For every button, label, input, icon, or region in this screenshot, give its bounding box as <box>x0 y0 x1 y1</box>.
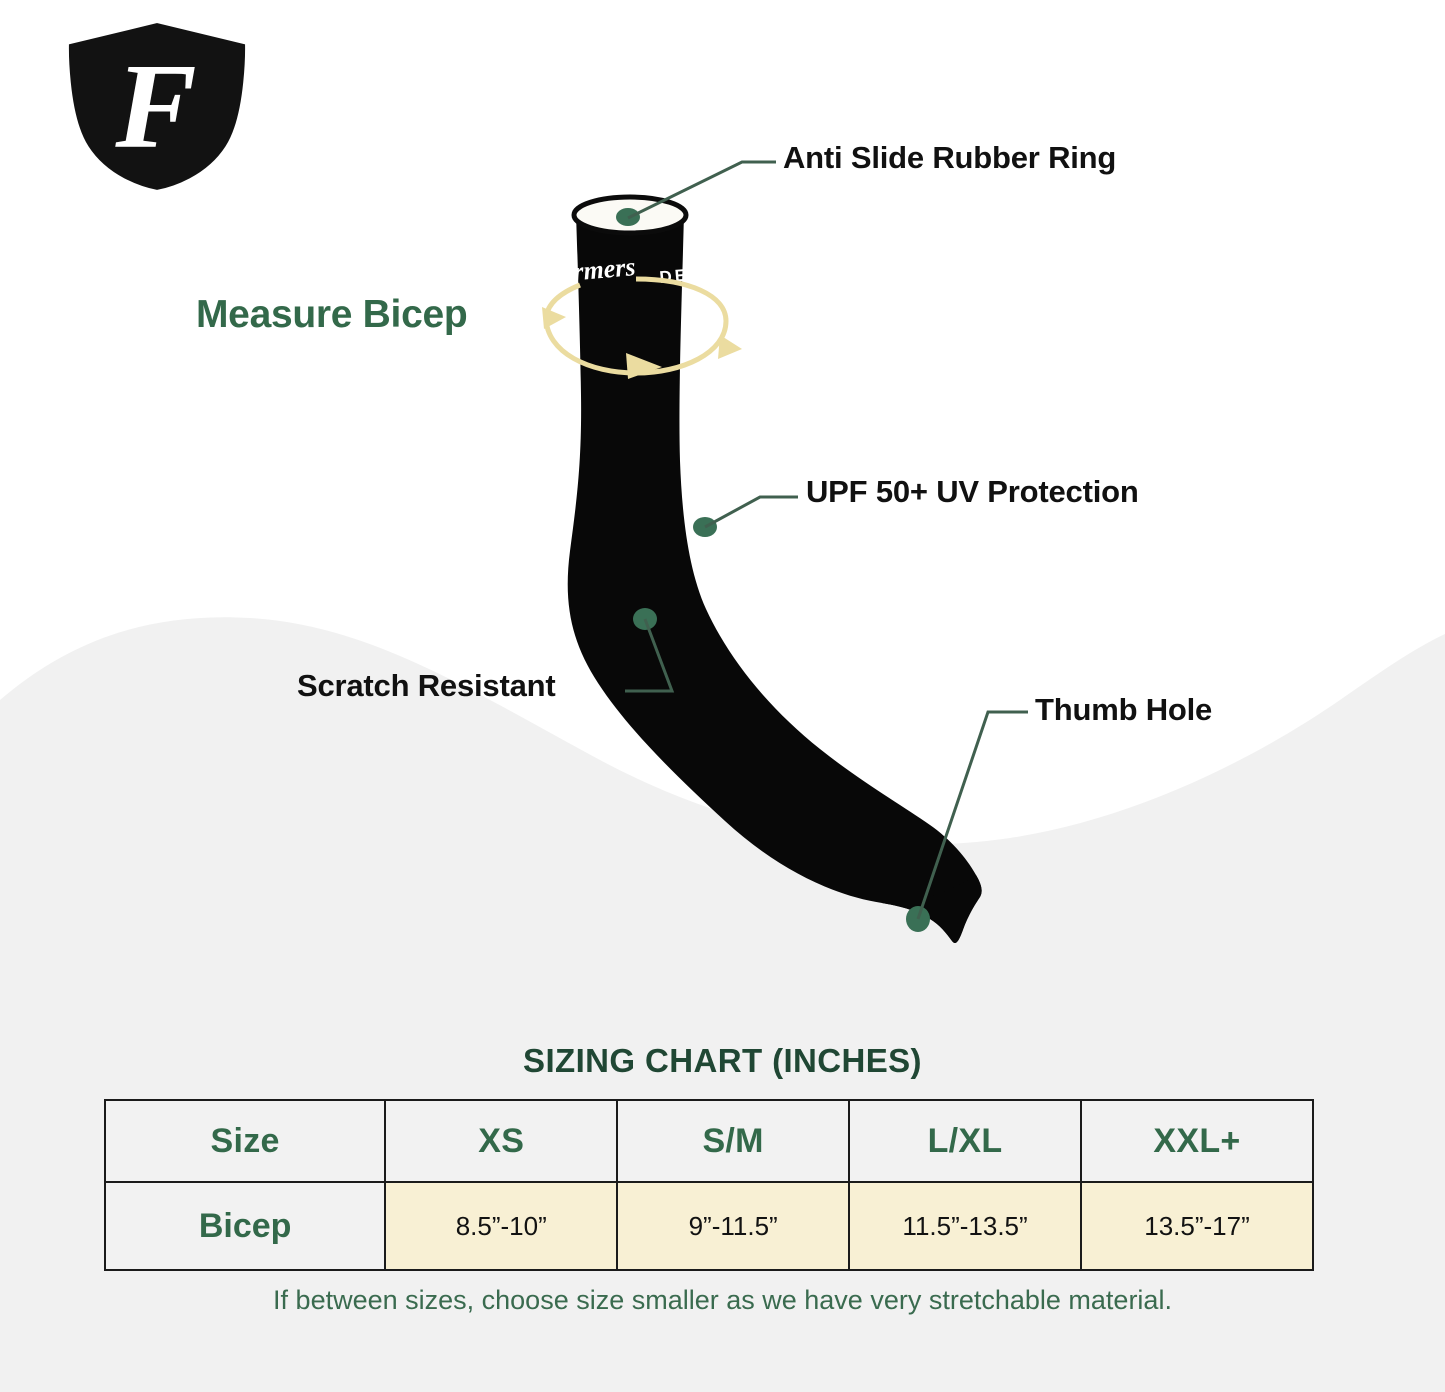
sizing-chart-note: If between sizes, choose size smaller as… <box>0 1285 1445 1316</box>
table-row-label-bicep: Bicep <box>105 1182 385 1270</box>
table-header-xs: XS <box>385 1100 617 1182</box>
sizing-chart-title: SIZING CHART (INCHES) <box>0 1042 1445 1080</box>
logo-letter: F <box>114 39 196 174</box>
table-header-row: Size XS S/M L/XL XXL+ <box>105 1100 1313 1182</box>
sizing-chart-table: Size XS S/M L/XL XXL+ Bicep 8.5”-10” 9”-… <box>104 1099 1314 1271</box>
table-cell-bicep-xs: 8.5”-10” <box>385 1182 617 1270</box>
callout-dot-upf-protection <box>693 517 717 537</box>
callout-dot-scratch-resistant <box>633 608 657 630</box>
callout-dot-thumb-hole <box>906 906 930 932</box>
shield-logo-icon: F <box>52 16 262 196</box>
table-cell-bicep-sm: 9”-11.5” <box>617 1182 849 1270</box>
table-header-size: Size <box>105 1100 385 1182</box>
table-cell-bicep-xxl: 13.5”-17” <box>1081 1182 1313 1270</box>
table-header-lxl: L/XL <box>849 1100 1081 1182</box>
sleeve-silhouette <box>568 213 982 943</box>
measure-bicep-label: Measure Bicep <box>196 293 467 337</box>
callout-label-upf-protection: UPF 50+ UV Protection <box>806 474 1139 510</box>
callout-label-thumb-hole: Thumb Hole <box>1035 692 1212 728</box>
callout-label-anti-slide-rubber-ring: Anti Slide Rubber Ring <box>783 140 1116 176</box>
callout-label-scratch-resistant: Scratch Resistant <box>297 668 555 704</box>
table-header-sm: S/M <box>617 1100 849 1182</box>
table-cell-bicep-lxl: 11.5”-13.5” <box>849 1182 1081 1270</box>
table-header-xxl: XXL+ <box>1081 1100 1313 1182</box>
callout-dot-anti-slide-rubber-ring <box>616 208 640 226</box>
infographic-page: F Farmers DEFENSE <box>0 0 1445 1392</box>
arm-sleeve-illustration: Farmers DEFENSE <box>430 175 1110 965</box>
table-row: Bicep 8.5”-10” 9”-11.5” 11.5”-13.5” 13.5… <box>105 1182 1313 1270</box>
